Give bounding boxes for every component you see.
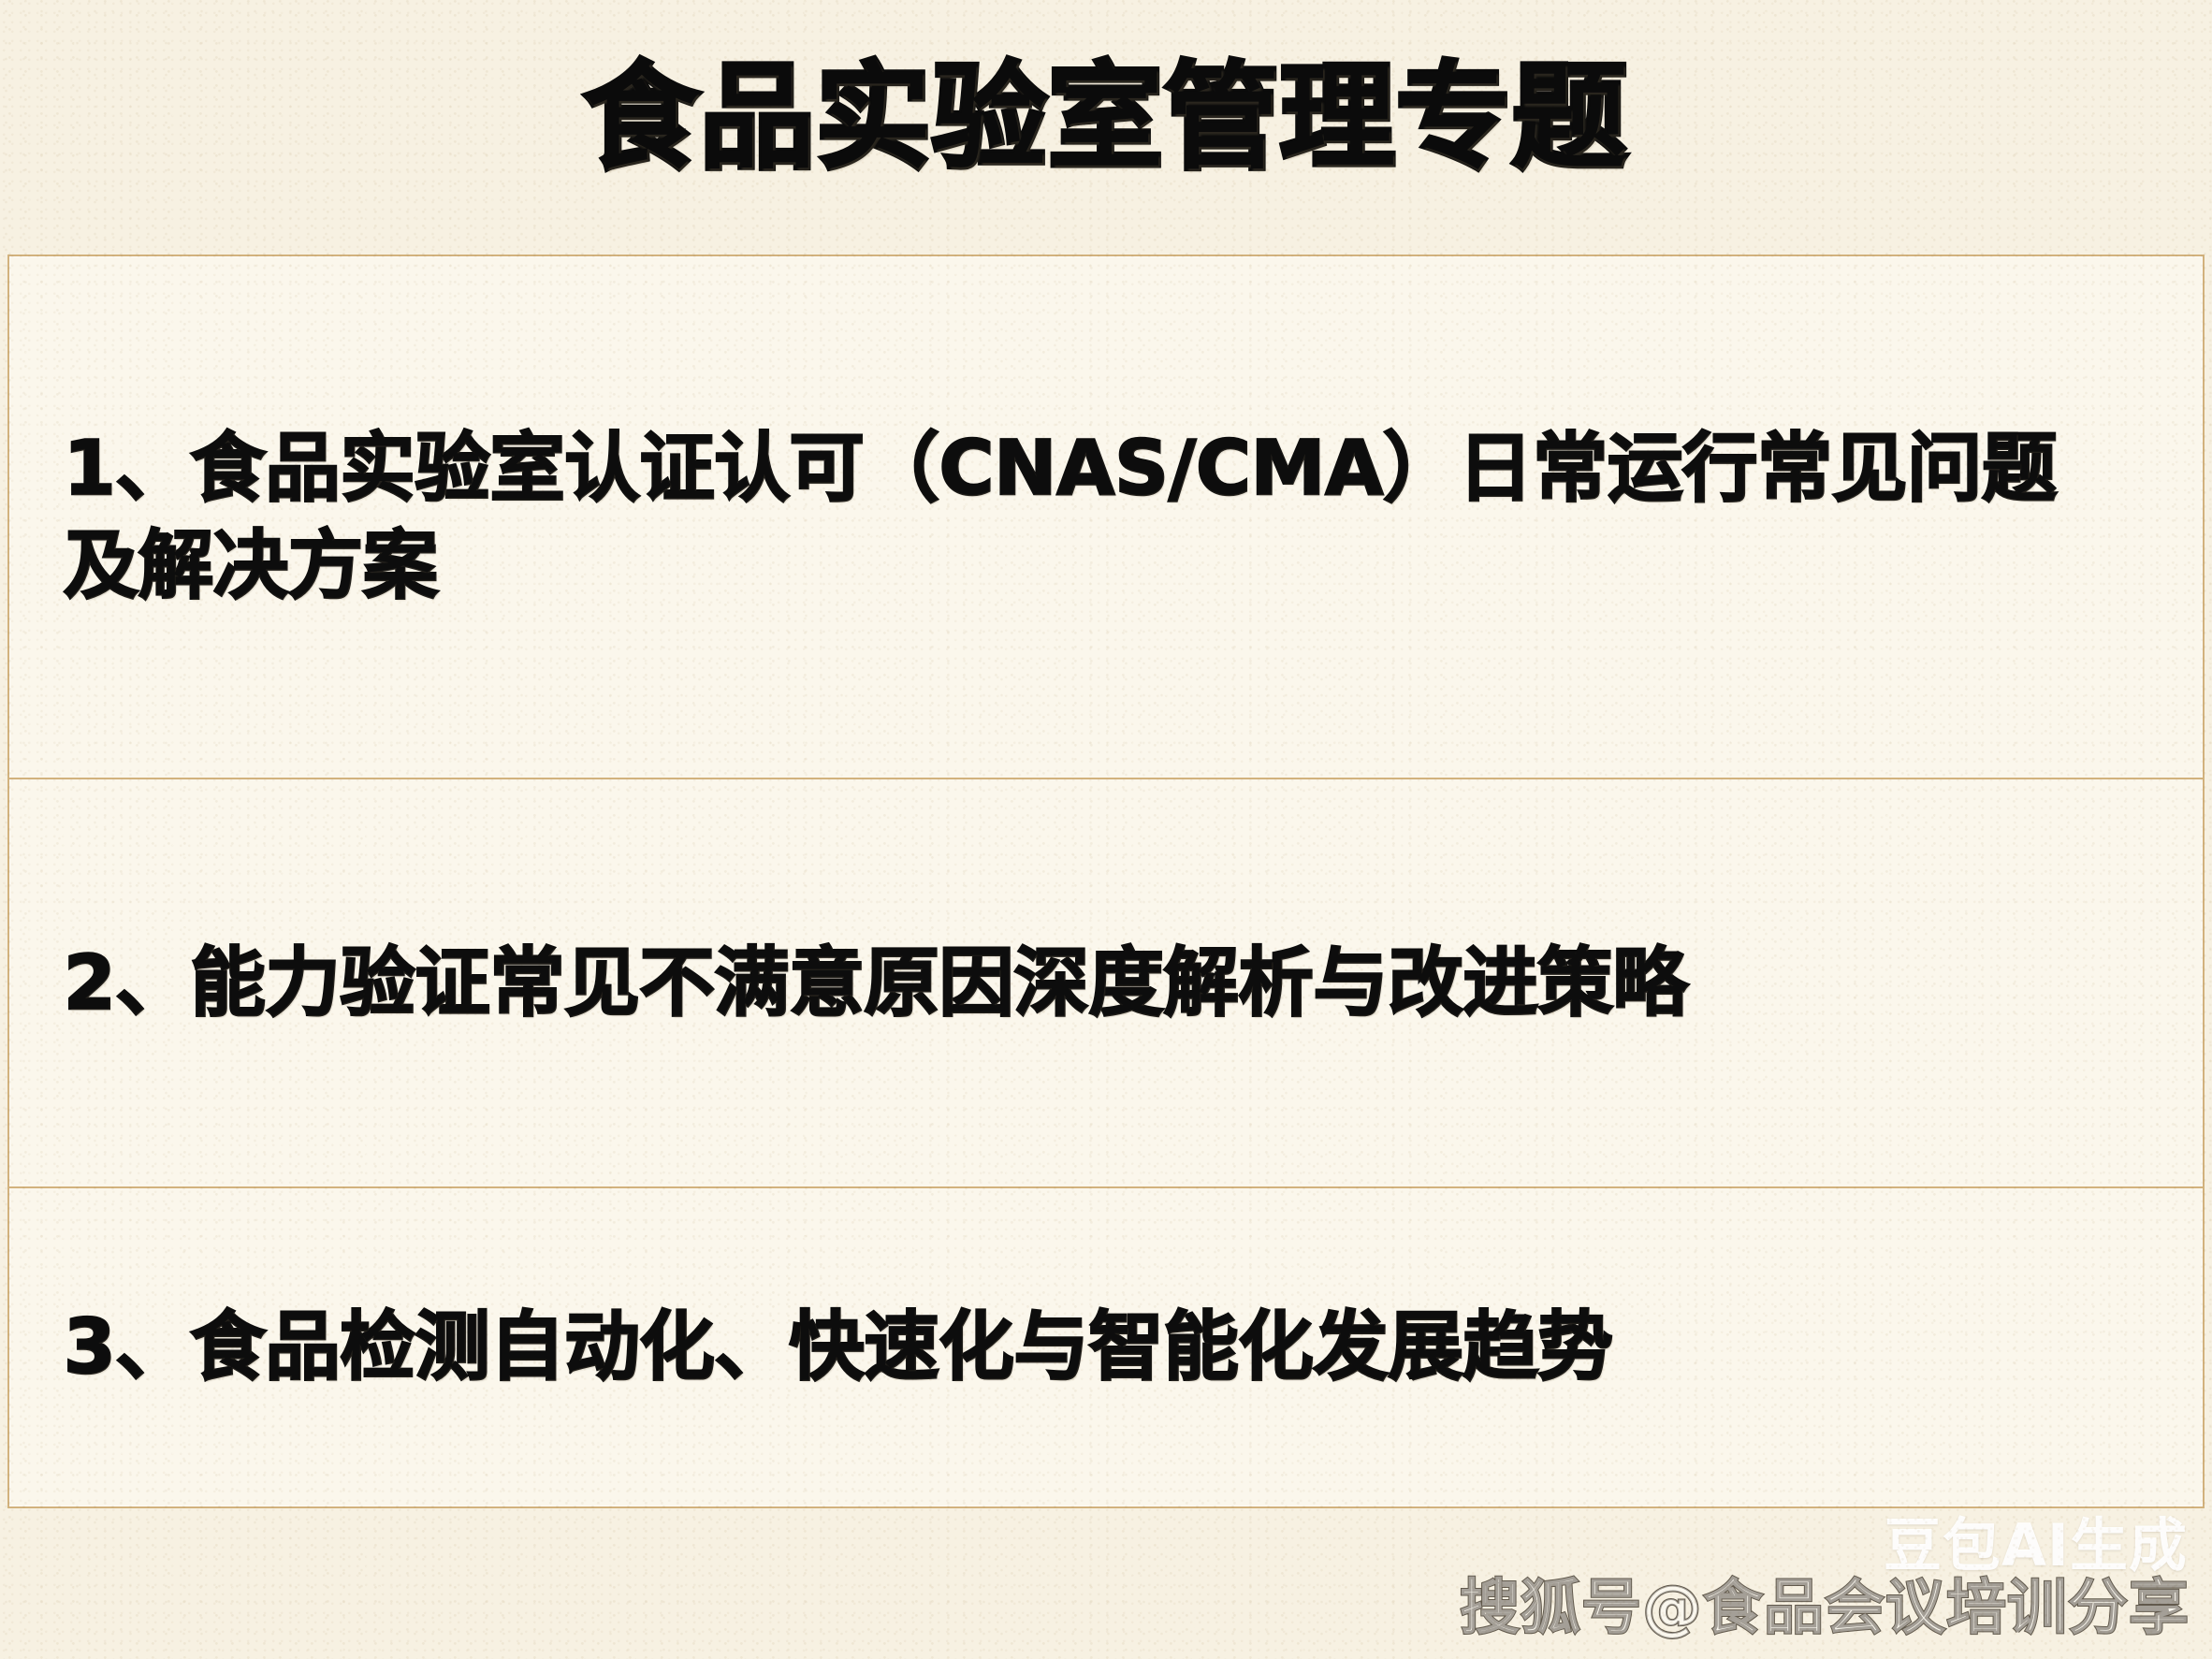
agenda-row: 2、能力验证常见不满意原因深度解析与改进策略 xyxy=(9,778,2203,1186)
agenda-panel: 1、食品实验室认证认可（CNAS/CMA）日常运行常见问题及解决方案 2、能力验… xyxy=(7,255,2205,1508)
agenda-item-1-text: 1、食品实验室认证认可（CNAS/CMA）日常运行常见问题及解决方案 xyxy=(64,420,2122,615)
title-container: 食品实验室管理专题 xyxy=(0,58,2212,180)
page-title: 食品实验室管理专题 xyxy=(584,58,1628,180)
slide-canvas: 食品实验室管理专题 1、食品实验室认证认可（CNAS/CMA）日常运行常见问题及… xyxy=(0,0,2212,1659)
agenda-item-3-text: 3、食品检测自动化、快速化与智能化发展趋势 xyxy=(64,1299,1613,1396)
channel-watermark: 搜狐号@食品会议培训分享 xyxy=(1460,1560,2190,1646)
agenda-row: 3、食品检测自动化、快速化与智能化发展趋势 xyxy=(9,1186,2203,1506)
agenda-item-2-text: 2、能力验证常见不满意原因深度解析与改进策略 xyxy=(64,935,1688,1032)
agenda-row: 1、食品实验室认证认可（CNAS/CMA）日常运行常见问题及解决方案 xyxy=(9,256,2203,778)
